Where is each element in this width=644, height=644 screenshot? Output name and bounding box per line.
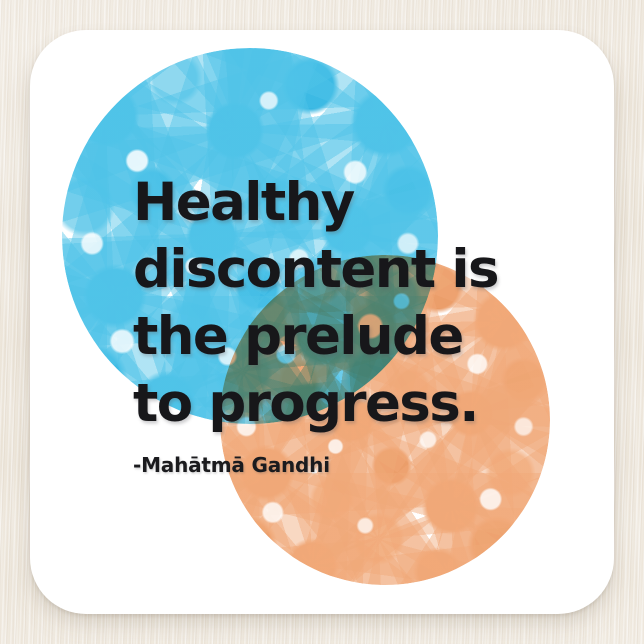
quote-line-2: discontent is [133,236,553,303]
coaster-canvas: Healthy discontent is the prelude to pro… [0,0,644,644]
coaster-artwork-area: Healthy discontent is the prelude to pro… [30,30,614,614]
quote-block: Healthy discontent is the prelude to pro… [133,169,553,477]
quote-line-4: to progress. [133,370,553,437]
quote-line-1: Healthy [133,169,553,236]
quote-line-3: the prelude [133,303,553,370]
quote-attribution: -Mahātmā Gandhi [133,453,553,477]
square-paper-coaster[interactable]: Healthy discontent is the prelude to pro… [30,30,614,614]
